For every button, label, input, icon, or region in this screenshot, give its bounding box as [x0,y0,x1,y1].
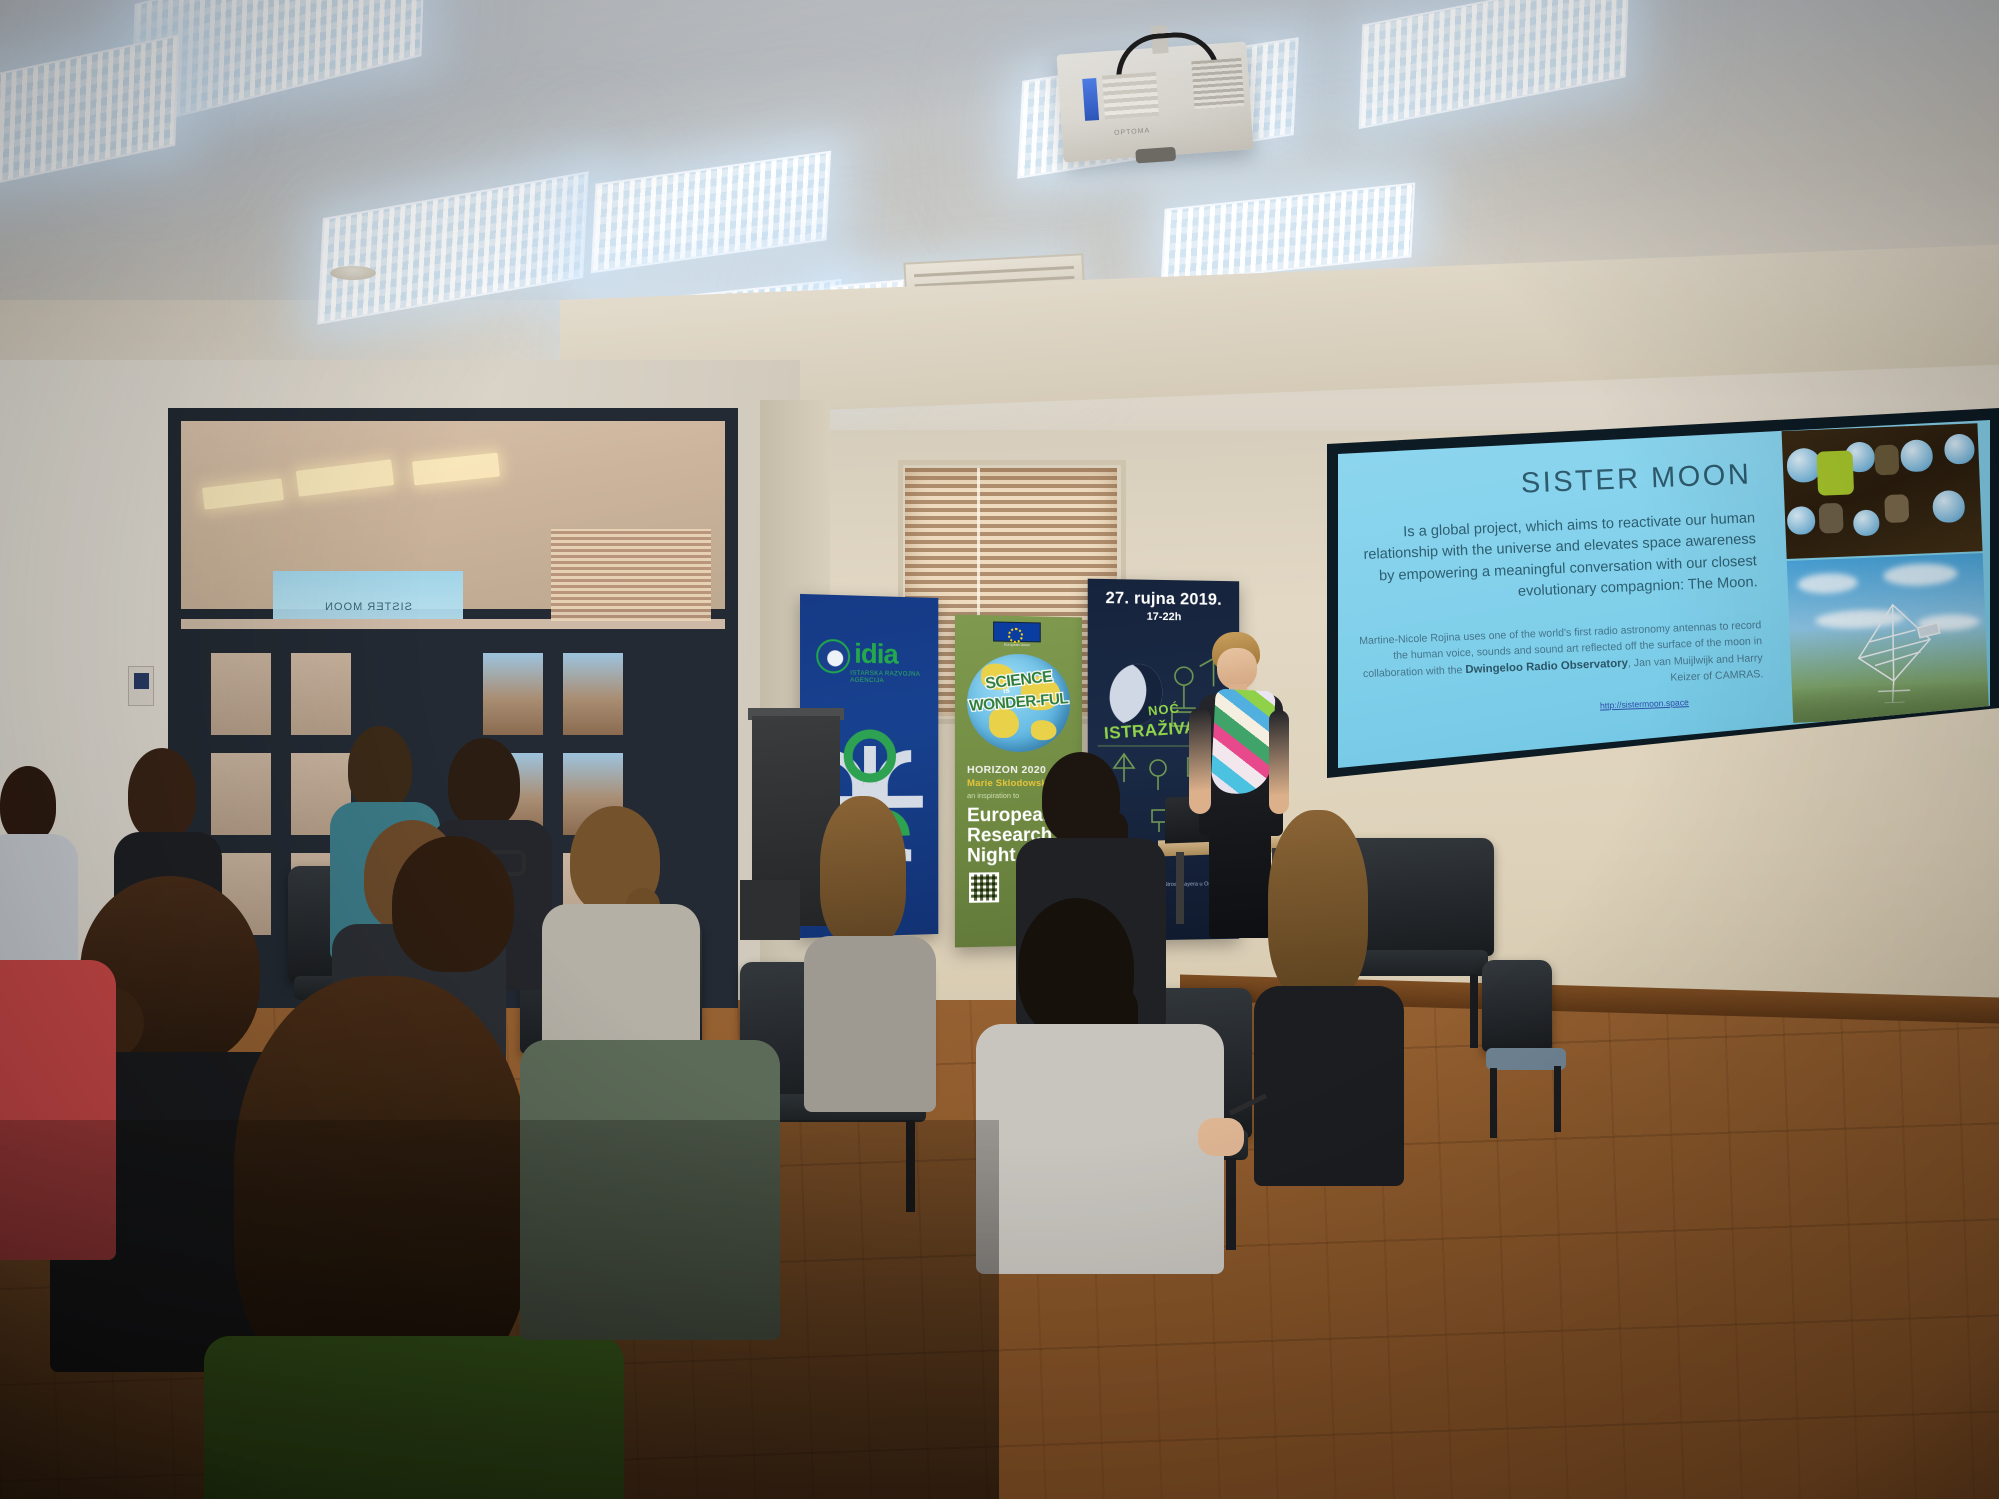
slide-subtext-after: , Jan van Muijlwijk and Harry Keizer of … [1628,652,1764,684]
slide-subtext: Martine-Nicole Rojina uses one of the wo… [1349,618,1763,699]
reflected-ceiling-light [412,453,500,486]
attendee-hair [0,766,56,842]
projector-brand-label: OPTOMA [1114,127,1151,137]
wall-light-switch[interactable] [128,666,154,706]
slide-link[interactable]: http://sistermoon.space [1522,694,1766,714]
agency-subtitle: ISTARSKA RAZVOJNA AGENCIJA [850,670,938,685]
agency-name: idia [854,638,898,671]
attendee-hair [348,726,412,810]
banner-programme: HORIZON 2020 [967,764,1046,776]
event-time: 17-22h [1088,610,1239,624]
reflected-ceiling-light [202,478,284,510]
glass-transom-window: SISTER MOON [181,421,725,619]
door-pane [286,648,356,740]
attendee-hair [1268,810,1368,1000]
banner-tagline: an inspiration to [967,791,1019,800]
door-pane [206,748,276,840]
room-photo-scene: OPTOMA SISTER MOON [0,0,1999,1499]
qr-code-icon[interactable] [969,872,999,903]
door-pane [206,648,276,740]
event-date: 27. rujna 2019. [1088,589,1239,610]
door-pane [558,648,628,740]
projector-vent [1191,58,1244,109]
presenter-left-arm [1189,708,1211,814]
presenter-right-arm [1269,710,1289,814]
slide-image-moon-collage [1782,423,1983,559]
attendee-torso [976,1024,1224,1274]
agency-logo-icon [816,639,850,674]
attendee-hair [448,738,520,828]
attendee-torso [804,936,936,1112]
reflected-slide: SISTER MOON [273,571,463,619]
attendee-hair [128,748,196,840]
slide-image-radio-telescope [1787,553,1989,723]
slide-subtext-highlight: Dwingeloo Radio Observatory [1465,657,1628,676]
attendee-hand [1198,1118,1244,1156]
attendee-hair [820,796,906,946]
smoke-detector [330,266,376,280]
reflected-window-blind [551,529,711,621]
projector-lens [1135,147,1176,164]
presenter-legs [1209,828,1271,938]
door-pane [478,648,548,740]
attendee-torso [0,834,78,974]
projector-panel-grid [1102,72,1159,120]
reflected-slide-text: SISTER MOON [273,601,463,613]
slide-body-text: Is a global project, which aims to react… [1351,508,1758,609]
table-leg [1176,852,1184,924]
event-title-line1: NOĆ [1147,700,1180,718]
foreground-shadow [0,1120,999,1499]
loudspeaker-box [740,880,800,940]
eu-flag-icon [993,621,1041,642]
banner-event-line1: European [967,806,1054,826]
slide-title: SISTER MOON [1351,458,1752,507]
attendee-torso [1254,986,1404,1186]
reflected-ceiling-light [296,459,394,497]
eu-flag-label: European Union [993,643,1041,648]
attendee-hair [392,836,514,972]
ceiling-projector[interactable]: OPTOMA [1056,42,1253,163]
projector-indicator [1082,78,1099,121]
